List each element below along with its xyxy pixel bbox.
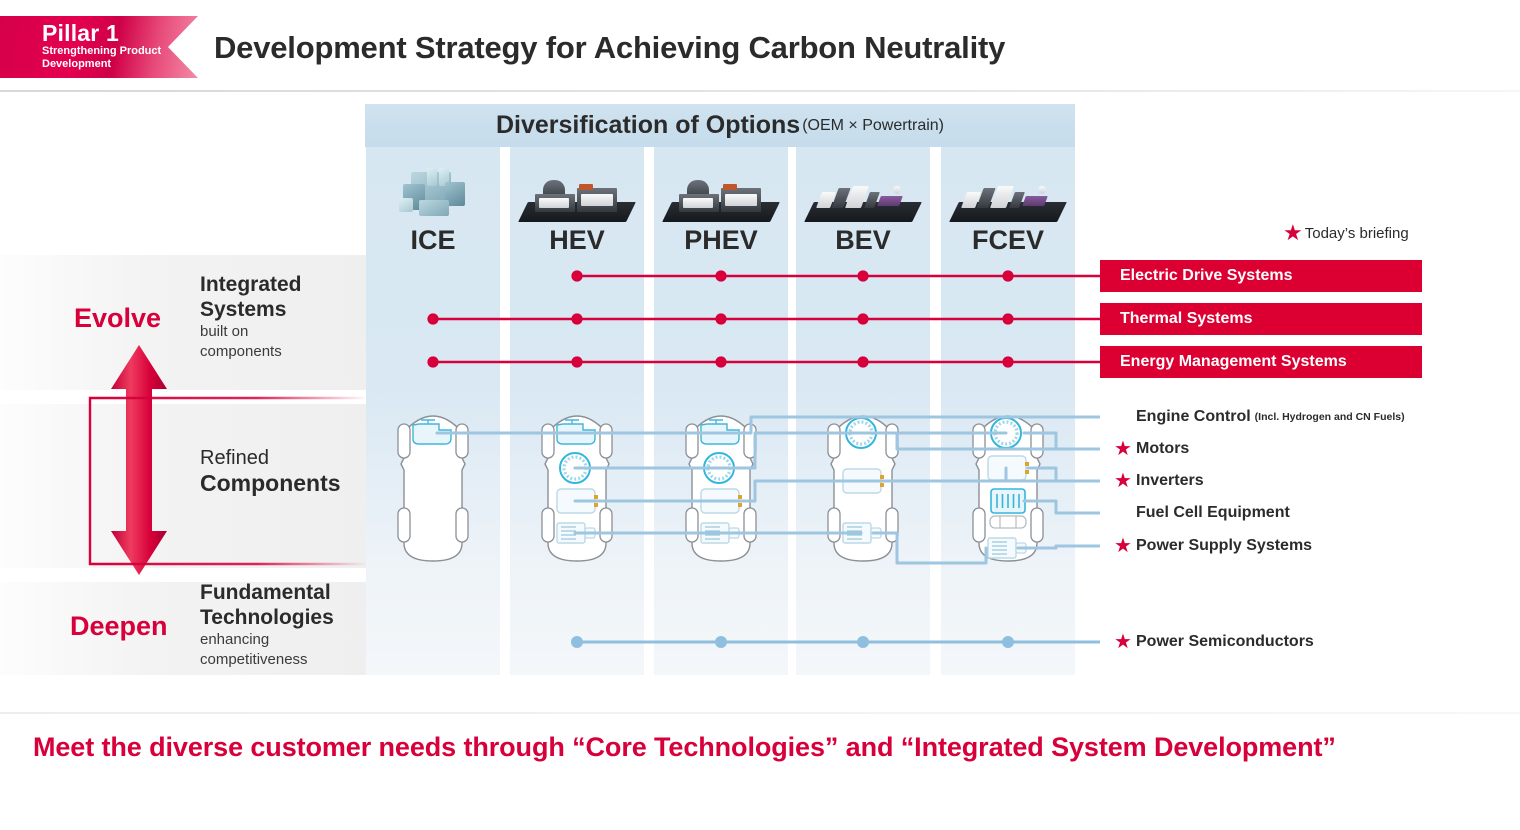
header-divider [0,90,1520,92]
refined-components-bracket [88,396,368,566]
star-icon: ★ [1283,222,1303,244]
chip-note: (Incl. Hydrogen and CN Fuels) [1251,411,1405,423]
tier1-title-line2: Systems [200,297,302,322]
powertrain-head-hev[interactable]: HEV [510,147,644,255]
powertrain-head-phev[interactable]: PHEV [654,147,788,255]
pillar-badge-title: Pillar 1 [42,21,198,45]
star-icon: ★ [1114,439,1136,459]
powertrain-label: HEV [510,225,644,255]
star-icon: ★ [1114,632,1136,652]
pillar-badge-subtitle-line2: Development [42,58,198,71]
inverter-photo-icon [667,178,775,222]
powertrain-head-ice[interactable]: ICE [366,147,500,255]
system-chip-energy-management-systems[interactable]: Energy Management Systems [1100,346,1422,378]
deepen-label: Deepen [70,611,168,642]
diversification-title: Diversification of Options [496,111,800,140]
pillar-badge-subtitle-line1: Strengthening Product [42,45,198,58]
inverter-photo-icon [523,178,631,222]
chip-label: Power Supply Systems [1136,537,1312,555]
star-icon: ★ [1114,471,1136,491]
powertrain-image [366,160,500,222]
component-chip-motors[interactable]: ★Motors [1100,436,1422,463]
evolve-label: Evolve [74,303,161,334]
component-chip-engine-control[interactable]: Engine Control(Incl. Hydrogen and CN Fue… [1100,404,1422,431]
tier3-title-line1: Fundamental [200,580,334,605]
tier3-title-line2: Technologies [200,605,334,630]
system-chip-thermal-systems[interactable]: Thermal Systems [1100,303,1422,335]
engine-photo-icon [397,166,469,222]
component-chip-power-semiconductors[interactable]: ★Power Semiconductors [1100,629,1422,656]
tier-band [0,255,366,390]
tier1-sub-line2: components [200,342,302,362]
powertrain-label: BEV [796,225,930,255]
tier1-title-line1: Integrated [200,272,302,297]
pillar-badge: Pillar 1 Strengthening Product Developme… [0,16,198,78]
powertrain-image [654,160,788,222]
ecu-photo-icon [954,178,1062,222]
powertrain-label: FCEV [941,225,1075,255]
powertrain-label: PHEV [654,225,788,255]
powertrain-image [796,160,930,222]
tier1-sub-line1: built on [200,322,302,342]
powertrain-image [510,160,644,222]
chip-label: Engine Control [1136,408,1251,426]
page-header: Pillar 1 Strengthening Product Developme… [0,0,1520,92]
tier3-sub-line2: competitiveness [200,650,334,670]
powertrain-head-fcev[interactable]: FCEV [941,147,1075,255]
component-chip-fuel-cell-equipment[interactable]: Fuel Cell Equipment [1100,500,1422,527]
tier-integrated-systems: Integrated Systems built on components [200,272,302,362]
diversification-subtitle: (OEM × Powertrain) [800,117,944,135]
chip-label: Energy Management Systems [1120,353,1347,371]
tier-fundamental-technologies: Fundamental Technologies enhancing compe… [200,580,334,670]
legend-todays-briefing: ★ Today’s briefing [1283,222,1409,244]
chip-label: Inverters [1136,472,1204,490]
chip-label: Fuel Cell Equipment [1136,504,1290,522]
powertrain-label: ICE [366,225,500,255]
diversification-header: Diversification of Options (OEM × Powert… [365,104,1075,147]
ecu-photo-icon [809,178,917,222]
chip-label: Motors [1136,440,1189,458]
star-icon: ★ [1114,536,1136,556]
component-chip-power-supply-systems[interactable]: ★Power Supply Systems [1100,533,1422,560]
component-chip-inverters[interactable]: ★Inverters [1100,468,1422,495]
page-title: Development Strategy for Achieving Carbo… [214,30,1005,66]
system-chip-electric-drive-systems[interactable]: Electric Drive Systems [1100,260,1422,292]
tagline: Meet the diverse customer needs through … [33,732,1336,763]
chip-label: Electric Drive Systems [1120,267,1293,285]
chip-label: Power Semiconductors [1136,633,1314,651]
tier3-sub-line1: enhancing [200,630,334,650]
legend-label: Today’s briefing [1303,225,1409,242]
powertrain-image [941,160,1075,222]
footer-divider [0,712,1520,714]
powertrain-head-bev[interactable]: BEV [796,147,930,255]
chip-label: Thermal Systems [1120,310,1253,328]
